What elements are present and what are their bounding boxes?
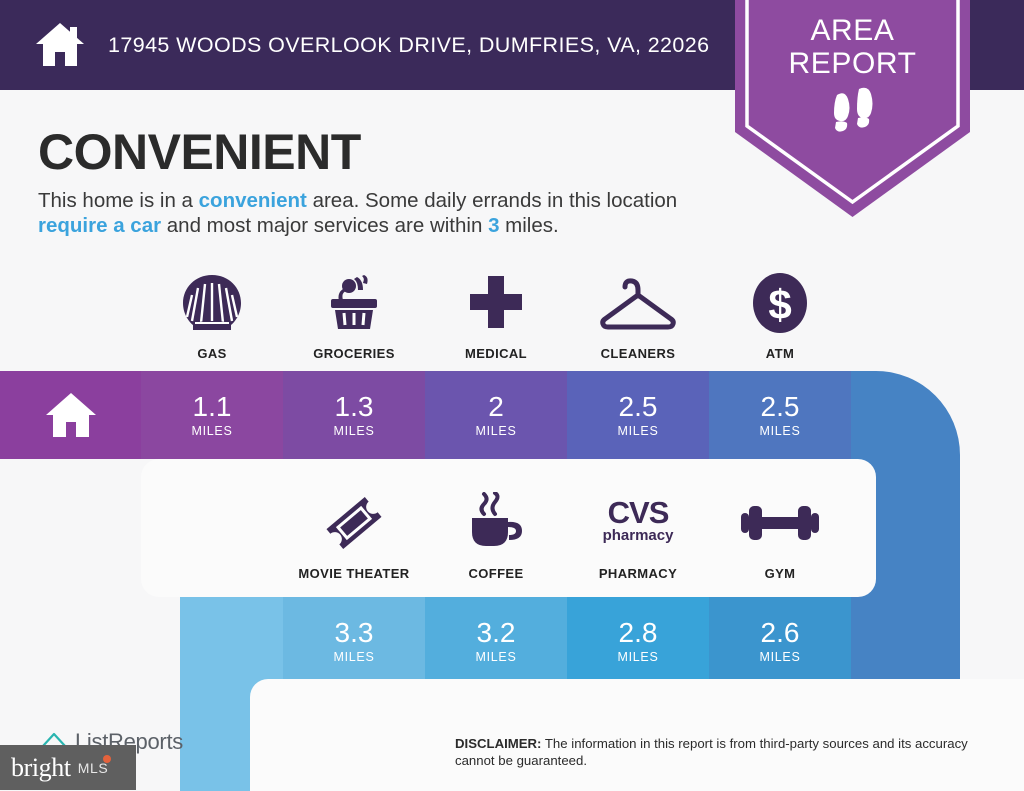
- brightmls-watermark: bright MLS: [0, 745, 136, 790]
- amenity-gym: GYM: [709, 492, 851, 581]
- amenity-label: PHARMACY: [599, 566, 677, 581]
- home-icon: [44, 390, 98, 440]
- amenity-movie-theater: MOVIE THEATER: [283, 492, 425, 581]
- distance-cell: 2.5 MILES: [567, 371, 709, 459]
- amenity-groceries: GROCERIES: [283, 272, 425, 361]
- distance-unit: MILES: [617, 650, 658, 664]
- amenity-row-2: MOVIE THEATER COFFEE CVS pharmacy PHARMA…: [283, 492, 851, 581]
- medical-cross-icon: [467, 272, 525, 334]
- coffee-cup-icon: [464, 492, 528, 554]
- dumbbell-icon: [737, 492, 823, 554]
- cvs-pharmacy-icon: CVS pharmacy: [592, 492, 684, 554]
- distance-cell: 1.3 MILES: [283, 371, 425, 459]
- distance-row-2: 3.3 MILES 3.2 MILES 2.8 MILES 2.6 MILES: [283, 597, 851, 685]
- footer: ListReports bright MLS DISCLAIMER: The i…: [0, 679, 1024, 791]
- amenity-row-1: GAS GROCERIES MEDICAL: [141, 272, 851, 361]
- disclaimer-label: DISCLAIMER:: [455, 736, 541, 751]
- amenity-pharmacy: CVS pharmacy PHARMACY: [567, 492, 709, 581]
- distance-unit: MILES: [759, 650, 800, 664]
- brightmls-word: bright: [11, 753, 71, 783]
- footprints-icon: [827, 87, 879, 137]
- area-report-badge: AREA REPORT: [735, 0, 970, 217]
- distance-value: 1.1: [193, 392, 232, 421]
- distance-value: 2: [488, 392, 504, 421]
- distance-value: 2.5: [619, 392, 658, 421]
- disclaimer: DISCLAIMER: The information in this repo…: [455, 735, 1000, 769]
- badge-text: AREA REPORT: [735, 14, 970, 80]
- distance-cell: 1.1 MILES: [141, 371, 283, 459]
- badge-line-1: AREA: [735, 14, 970, 47]
- svg-text:pharmacy: pharmacy: [603, 527, 675, 544]
- distance-cell: 2 MILES: [425, 371, 567, 459]
- distance-cell: 3.2 MILES: [425, 597, 567, 685]
- amenity-cleaners: CLEANERS: [567, 272, 709, 361]
- amenity-label: COFFEE: [468, 566, 523, 581]
- distance-unit: MILES: [191, 424, 232, 438]
- amenity-label: ATM: [766, 346, 794, 361]
- amenity-label: GAS: [197, 346, 226, 361]
- amenity-label: GROCERIES: [313, 346, 395, 361]
- distance-value: 2.5: [761, 392, 800, 421]
- distance-unit: MILES: [759, 424, 800, 438]
- distance-unit: MILES: [333, 424, 374, 438]
- distance-unit: MILES: [475, 650, 516, 664]
- amenity-atm: $ ATM: [709, 272, 851, 361]
- distance-unit: MILES: [475, 424, 516, 438]
- distance-cell: 3.3 MILES: [283, 597, 425, 685]
- distance-value: 2.6: [761, 618, 800, 647]
- amenity-gas: GAS: [141, 272, 283, 361]
- atm-dollar-icon: $: [751, 272, 809, 334]
- amenity-coffee: COFFEE: [425, 492, 567, 581]
- distance-value: 3.2: [477, 618, 516, 647]
- movie-ticket-icon: [323, 492, 385, 554]
- svg-text:CVS: CVS: [608, 495, 669, 530]
- amenity-label: GYM: [765, 566, 796, 581]
- distance-value: 3.3: [335, 618, 374, 647]
- distance-cell: 2.8 MILES: [567, 597, 709, 685]
- distance-unit: MILES: [333, 650, 374, 664]
- amenity-label: CLEANERS: [601, 346, 676, 361]
- amenity-medical: MEDICAL: [425, 272, 567, 361]
- distance-cell: 2.5 MILES: [709, 371, 851, 459]
- distance-row-1: 1.1 MILES 1.3 MILES 2 MILES 2.5 MILES 2.…: [0, 371, 851, 459]
- svg-text:$: $: [768, 281, 791, 328]
- clothes-hanger-icon: [600, 272, 676, 334]
- brightmls-dot-icon: [103, 755, 111, 763]
- distance-unit: MILES: [617, 424, 658, 438]
- distance-cell: 2.6 MILES: [709, 597, 851, 685]
- home-origin-cell: [0, 371, 141, 459]
- amenity-label: MEDICAL: [465, 346, 527, 361]
- distance-value: 1.3: [335, 392, 374, 421]
- badge-line-2: REPORT: [735, 47, 970, 80]
- grocery-basket-icon: [323, 272, 385, 334]
- distance-value: 2.8: [619, 618, 658, 647]
- amenity-label: MOVIE THEATER: [298, 566, 409, 581]
- gas-shell-icon: [181, 272, 243, 334]
